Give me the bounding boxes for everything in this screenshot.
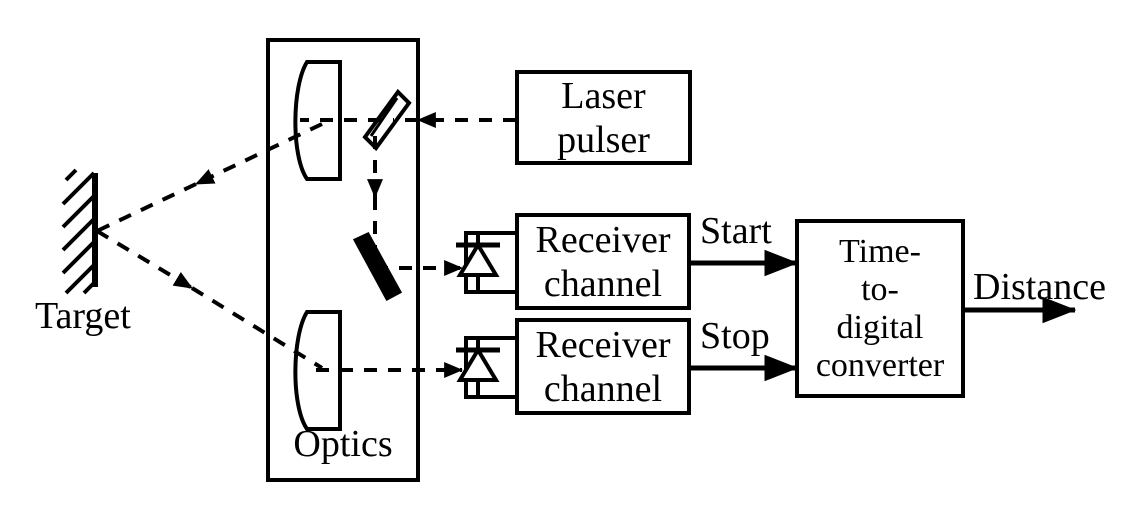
target-surface (63, 170, 95, 293)
receiver-channel-1-label: Receiver channel (517, 215, 689, 308)
beam-lens-to-target-2 (97, 184, 196, 231)
tdc-label-line-1: Time- (839, 233, 921, 271)
tdc-label-line-2: to- (861, 271, 899, 309)
receiver-channel-1-label-line-1: Receiver (535, 218, 670, 262)
target-hatching (63, 170, 94, 293)
laser-pulser-label-line-1: Laser (561, 74, 645, 118)
photodiode-start (456, 233, 517, 292)
stop-label: Stop (700, 316, 770, 356)
receiver-channel-2-label-line-1: Receiver (535, 323, 670, 367)
figure-canvas: Optics Laser pulser Receiver channel Rec… (0, 0, 1123, 527)
laser-pulser-label: Laser pulser (517, 72, 690, 163)
distance-label: Distance (973, 267, 1106, 307)
start-label: Start (700, 211, 772, 251)
optics-box-label: Optics (268, 424, 418, 464)
target-label: Target (35, 296, 131, 336)
receiver-channel-2-label-line-2: channel (544, 367, 662, 411)
receiver-channel-2-label: Receiver channel (517, 320, 689, 413)
laser-pulser-label-line-2: pulser (557, 118, 650, 162)
optical-beams (97, 120, 516, 370)
tdc-label-line-4: converter (816, 347, 944, 385)
time-to-digital-converter-label: Time- to- digital converter (797, 221, 963, 396)
photodiode-stop (456, 338, 517, 397)
receiver-channel-1-label-line-2: channel (544, 262, 662, 306)
tdc-label-line-3: digital (837, 309, 924, 347)
beam-target-to-lens-1 (97, 231, 192, 288)
